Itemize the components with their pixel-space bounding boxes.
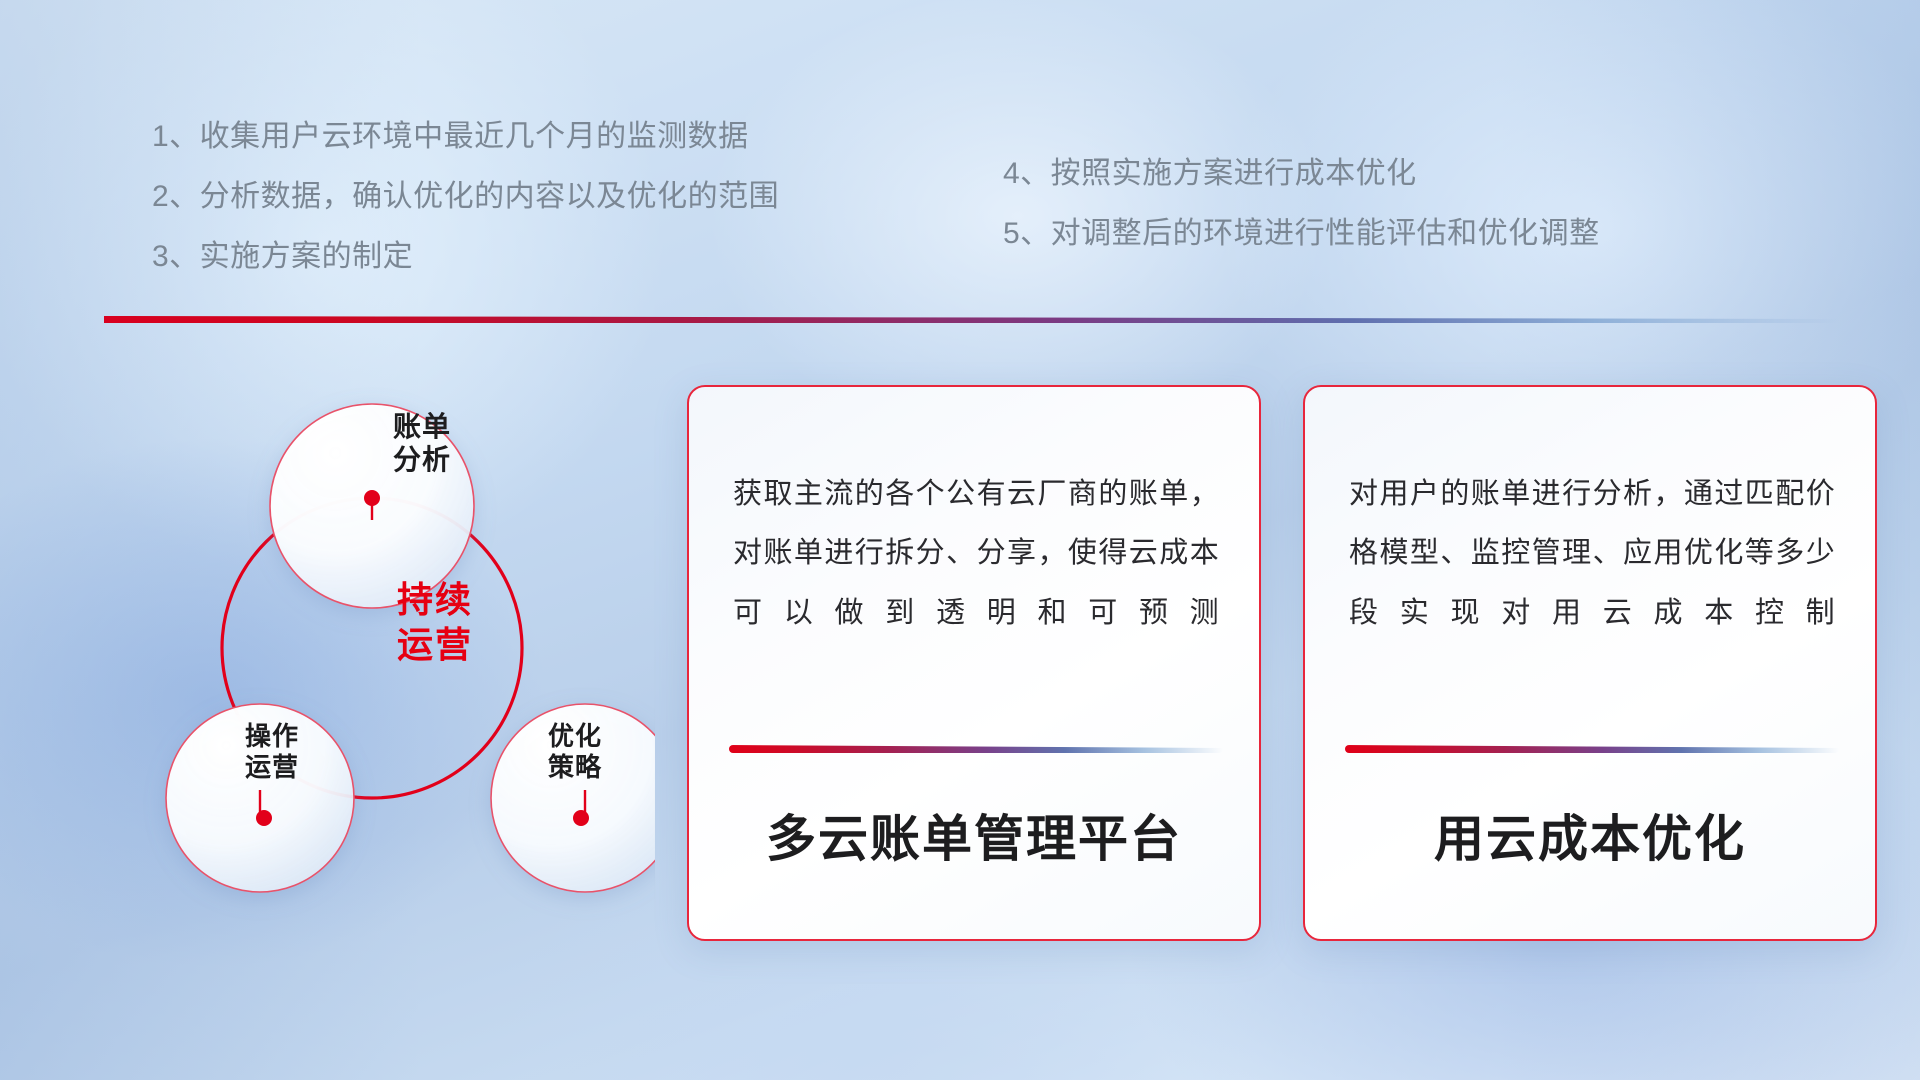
card-divider (729, 745, 1223, 753)
card-multi-cloud-billing-platform[interactable]: 获取主流的各个公有云厂商的账单，对账单进行拆分、分享，使得云成本可以做到透明和可… (687, 385, 1261, 941)
card-body-text: 获取主流的各个公有云厂商的账单，对账单进行拆分、分享，使得云成本可以做到透明和可… (733, 465, 1219, 643)
section-divider-bar (104, 316, 1839, 323)
step-item-3: 3、实施方案的制定 (152, 242, 779, 272)
diagram-node-dot-right (573, 810, 589, 826)
step-item-1: 1、收集用户云环境中最近几个月的监测数据 (152, 122, 779, 152)
diagram-label-optimization-strategy: 优化 策略 (495, 721, 655, 782)
step-list-right: 4、按照实施方案进行成本优化 5、对调整后的环境进行性能评估和优化调整 (1003, 159, 1600, 249)
diagram-node-dot-top (364, 490, 380, 506)
step-list-left: 1、收集用户云环境中最近几个月的监测数据 2、分析数据，确认优化的内容以及优化的… (152, 122, 779, 272)
card-title: 用云成本优化 (1305, 799, 1875, 871)
section-divider (104, 316, 1839, 323)
card-title: 多云账单管理平台 (689, 799, 1259, 871)
diagram-node-dot-left (256, 810, 272, 826)
continuous-operations-diagram: 账单 分析 操作 运营 优化 策略 持续 运营 (95, 348, 655, 948)
card-body-text: 对用户的账单进行分析，通过匹配价格模型、监控管理、应用优化等多少段实现对用云成本… (1349, 465, 1835, 643)
diagram-label-operations: 操作 运营 (192, 721, 352, 782)
card-cloud-cost-optimization[interactable]: 对用户的账单进行分析，通过匹配价格模型、监控管理、应用优化等多少段实现对用云成本… (1303, 385, 1877, 941)
diagram-center-label: 持续 运营 (350, 577, 520, 667)
card-divider (1345, 745, 1839, 753)
step-item-2: 2、分析数据，确认优化的内容以及优化的范围 (152, 182, 779, 212)
step-item-4: 4、按照实施方案进行成本优化 (1003, 159, 1600, 189)
slide-canvas: 1、收集用户云环境中最近几个月的监测数据 2、分析数据，确认优化的内容以及优化的… (0, 0, 1920, 1080)
step-item-5: 5、对调整后的环境进行性能评估和优化调整 (1003, 219, 1600, 249)
diagram-label-bill-analysis: 账单 分析 (342, 410, 502, 476)
